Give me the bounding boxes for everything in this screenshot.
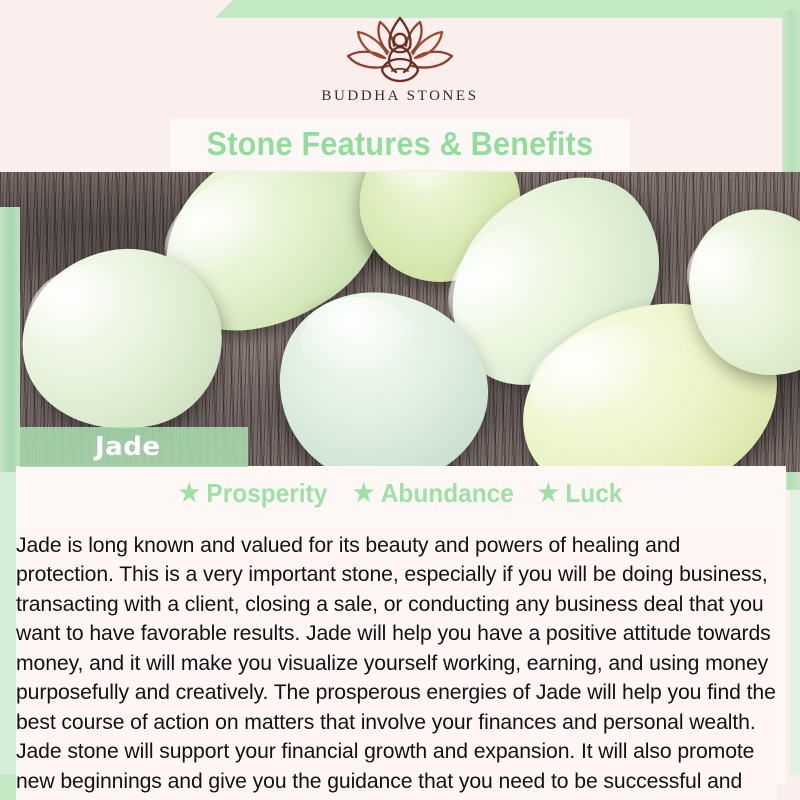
lotus-meditation-icon [330,14,470,86]
benefit-label: Abundance [381,478,514,509]
star-icon: ★ [354,481,375,506]
star-icon: ★ [179,481,200,506]
decor-right-thin-bar [790,490,800,775]
star-icon: ★ [538,481,559,506]
benefit-label: Prosperity [207,478,328,509]
brand-name: BUDDHA STONES [0,88,800,105]
stone-description: Jade is long known and valued for its be… [16,531,776,800]
page-title: Stone Features & Benefits [207,125,594,163]
benefit-label: Luck [566,478,623,509]
stone-info-card: BUDDHA STONES Stone Features & Benefits … [0,0,800,800]
decor-left-thin-bar [0,470,16,775]
brand-logo: BUDDHA STONES [0,14,800,105]
benefit-prosperity: ★ Prosperity [179,478,328,509]
decor-left-vertical-bar [0,207,20,472]
benefits-row: ★ Prosperity ★ Abundance ★ Luck [0,478,800,509]
stone-name-badge: Jade [20,427,248,467]
benefit-abundance: ★ Abundance [354,478,515,509]
section-title-band: Stone Features & Benefits [170,118,630,170]
benefit-luck: ★ Luck [538,478,623,509]
stone-name: Jade [95,432,160,462]
